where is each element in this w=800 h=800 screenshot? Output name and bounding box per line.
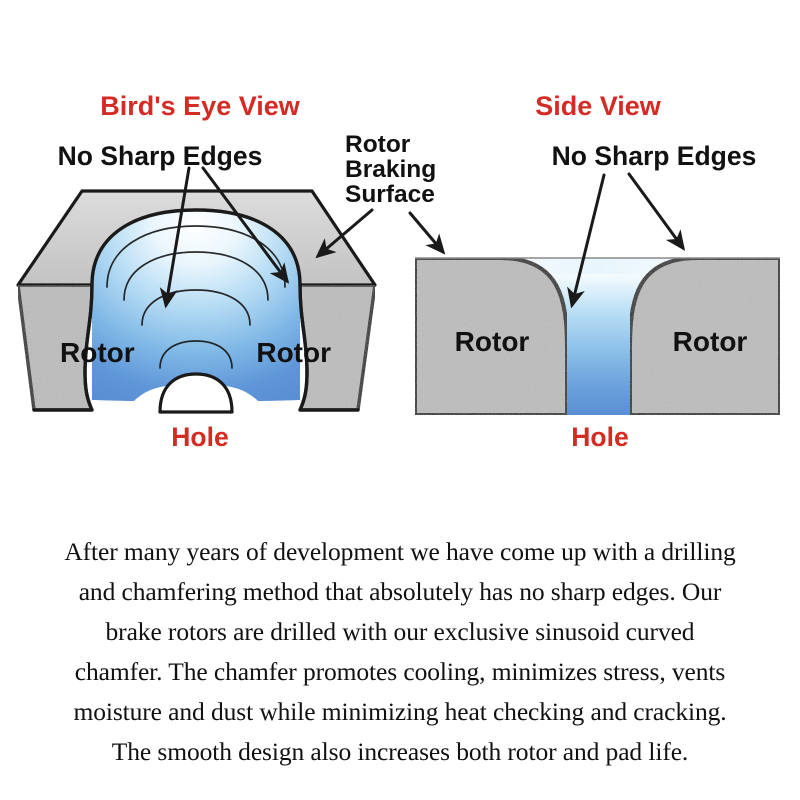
chamfer-funnel [92,210,300,401]
description-line: and chamfering method that absolutely ha… [0,572,800,612]
illustration-page: Bird's Eye View Side View No Sharp Edges… [0,0,800,800]
no-sharp-edges-label-left: No Sharp Edges [58,141,263,171]
rotor-label-side-right: Rotor [673,326,748,357]
chamfer-funnel-fill [92,210,300,401]
description-paragraph: After many years of development we have … [0,532,800,772]
description-line: moisture and dust while minimizing heat … [0,692,800,732]
description-line: chamfer. The chamfer promotes cooling, m… [0,652,800,692]
arrow-braking-surface-right [410,213,443,252]
rotor-label-side-left: Rotor [455,326,530,357]
description-line: After many years of development we have … [0,532,800,572]
rotor-braking-surface-label: Rotor Braking Surface [345,131,436,208]
arrow-no-sharp-edges-right-b [629,174,683,248]
rotor-label-birds-eye-left: Rotor [60,337,135,368]
birds-eye-view-group [18,191,375,412]
birds-eye-view-title: Bird's Eye View [100,91,301,121]
no-sharp-edges-label-right: No Sharp Edges [552,141,757,171]
hole-label-birds-eye: Hole [171,422,228,452]
hole-label-side: Hole [571,422,628,452]
description-line: The smooth design also increases both ro… [0,732,800,772]
side-view-title: Side View [535,91,662,121]
rotor-label-birds-eye-right: Rotor [256,337,331,368]
rotor-braking-surface-label-line3: Surface [345,181,435,208]
rotor-braking-surface-label-line1: Rotor [345,131,411,158]
description-line: brake rotors are drilled with our exclus… [0,612,800,652]
rotor-braking-surface-label-line2: Braking [345,156,436,183]
